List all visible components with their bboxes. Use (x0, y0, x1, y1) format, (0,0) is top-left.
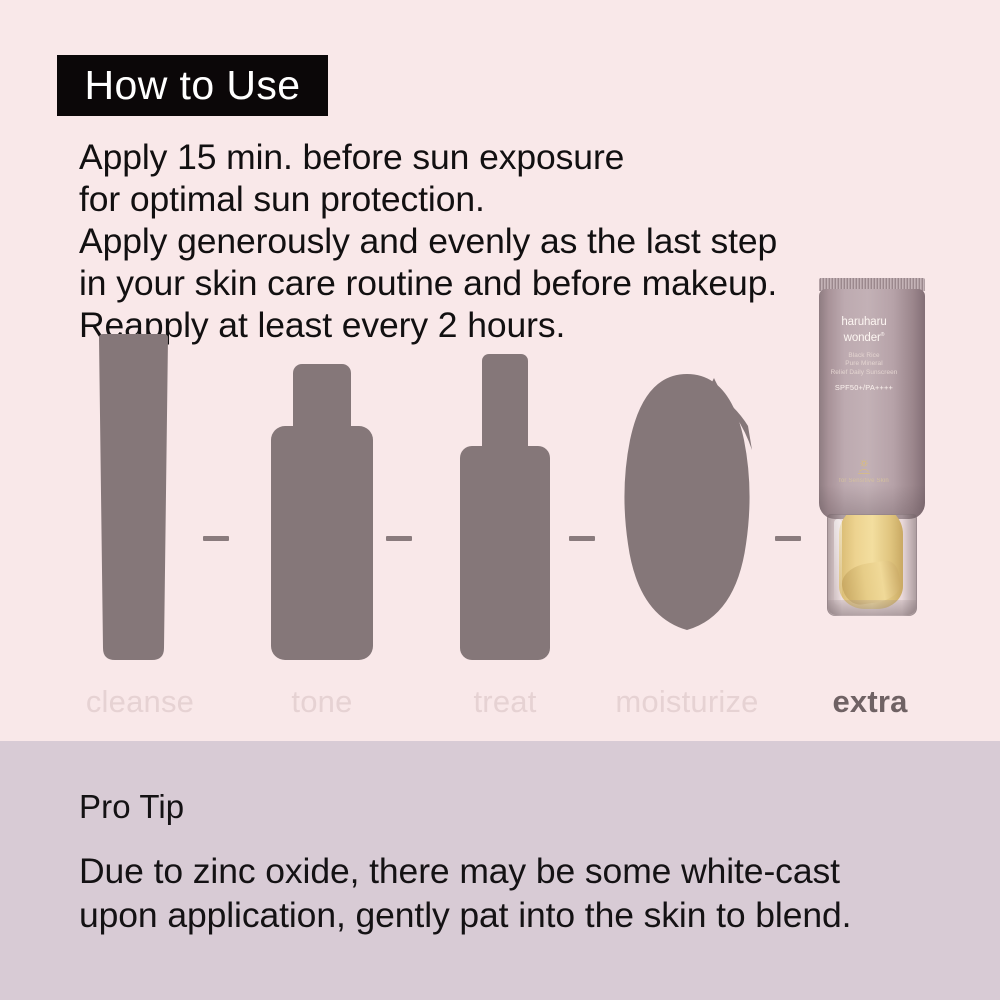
serum-bottle-icon (420, 330, 590, 668)
pro-tip-title: Pro Tip (79, 788, 184, 826)
routine-step-cleanse: cleanse (55, 330, 225, 720)
toner-bottle-icon (237, 330, 407, 668)
cap-highlight (834, 519, 842, 605)
how-to-use-section: How to Use Apply 15 min. before sun expo… (0, 0, 1000, 741)
routine-steps: cleanse tone (0, 330, 1000, 720)
product-instruction-graphic: How to Use Apply 15 min. before sun expo… (0, 0, 1000, 1000)
tube-body (819, 289, 925, 519)
routine-step-tone: tone (237, 330, 407, 720)
sunscreen-tube-photo: haruharu wonder® Black Rice Pure Mineral… (785, 330, 955, 668)
routine-step-label: tone (237, 684, 407, 720)
routine-step-treat: treat (420, 330, 590, 720)
cap-base-rim (828, 600, 916, 615)
pro-tip-section: Pro Tip Due to zinc oxide, there may be … (0, 741, 1000, 1000)
tube-icon (55, 330, 225, 668)
how-to-use-title: How to Use (85, 65, 301, 106)
how-to-use-instructions: Apply 15 min. before sun exposure for op… (79, 136, 909, 346)
how-to-use-badge: How to Use (57, 55, 328, 116)
pro-tip-body: Due to zinc oxide, there may be some whi… (79, 849, 929, 937)
routine-step-label: treat (420, 684, 590, 720)
product-tube: haruharu wonder® Black Rice Pure Mineral… (811, 278, 933, 616)
sun-flower-emblem-icon (855, 458, 873, 476)
routine-step-extra: haruharu wonder® Black Rice Pure Mineral… (785, 330, 955, 720)
routine-step-label: cleanse (55, 684, 225, 720)
cream-jar-icon (602, 330, 772, 668)
routine-step-label: extra (785, 684, 955, 720)
tube-clear-cap (827, 514, 917, 616)
tube-emblem-area: for Sensitive Skin (811, 458, 917, 484)
routine-step-label: moisturize (602, 684, 772, 720)
routine-step-moisturize: moisturize (602, 330, 772, 720)
sensitive-skin-text: for Sensitive Skin (811, 478, 917, 484)
